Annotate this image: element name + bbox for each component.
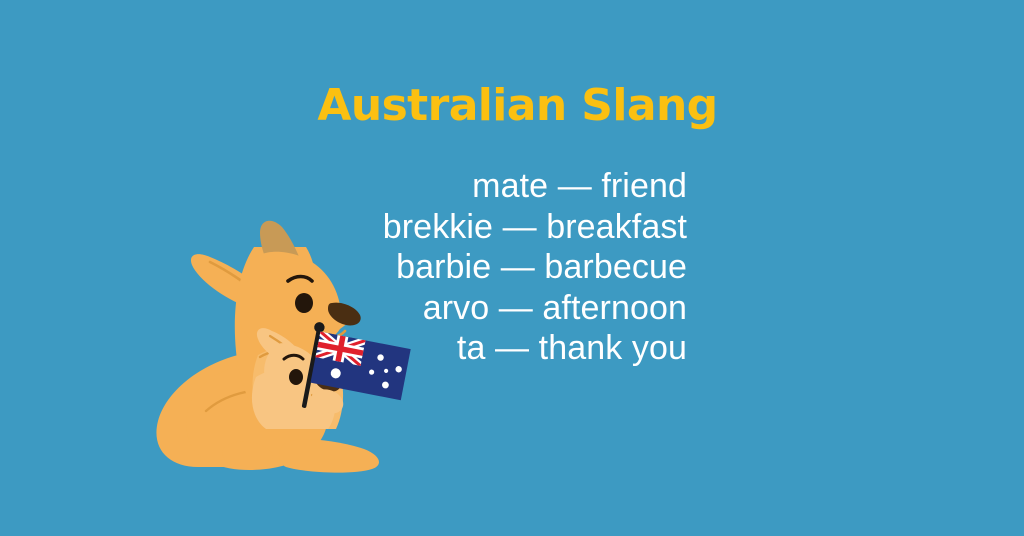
kangaroo-illustration xyxy=(140,205,410,480)
kangaroo-eye xyxy=(295,293,313,313)
page-title: Australian Slang xyxy=(0,77,1024,135)
kangaroo-foot-right xyxy=(279,439,379,472)
slide-canvas: Australian Slang mate — friend brekkie —… xyxy=(0,0,1024,536)
joey-eye xyxy=(289,369,303,385)
list-item: mate — friend xyxy=(240,166,687,207)
